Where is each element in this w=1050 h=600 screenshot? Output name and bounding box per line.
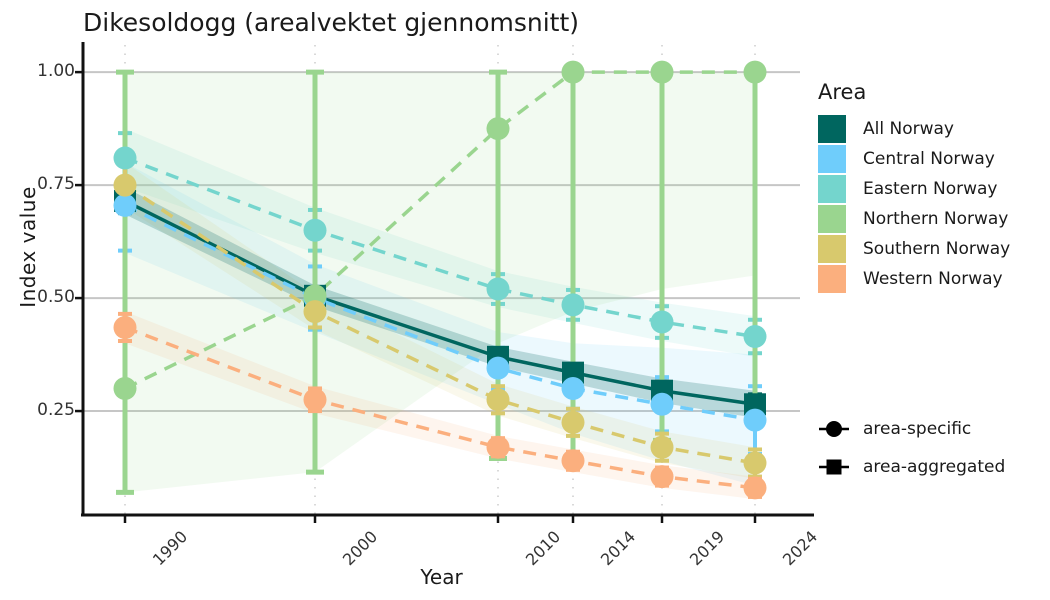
marker-circle-southern-norway-0: [114, 174, 137, 197]
marker-circle-eastern-norway-5: [744, 325, 767, 348]
shape-legend-item-area-specific[interactable]: area-specific: [818, 410, 1048, 448]
marker-circle-eastern-norway-2: [487, 278, 510, 301]
shape-legend-item-label: area-specific: [863, 419, 971, 439]
legend-color-swatch: [818, 235, 846, 263]
marker-circle-southern-norway-3: [562, 411, 585, 434]
marker-circle-southern-norway-5: [744, 452, 767, 475]
legend-item-label: Northern Norway: [863, 209, 1008, 229]
legend-item-all-norway[interactable]: All Norway: [818, 114, 1048, 144]
legend-item-northern-norway[interactable]: Northern Norway: [818, 204, 1048, 234]
marker-circle-southern-norway-1: [304, 300, 327, 323]
square-marker-icon: [818, 453, 850, 481]
marker-circle-eastern-norway-1: [304, 219, 327, 242]
marker-circle-northern-norway-3: [562, 61, 585, 84]
marker-circle-northern-norway-2: [487, 117, 510, 140]
marker-circle-northern-norway-0: [114, 377, 137, 400]
marker-circle-northern-norway-5: [744, 61, 767, 84]
shape-legend: area-specificarea-aggregated: [818, 410, 1048, 486]
legend-item-label: Southern Norway: [863, 239, 1010, 259]
area-legend: Area All NorwayCentral NorwayEastern Nor…: [818, 80, 1048, 294]
legend-item-central-norway[interactable]: Central Norway: [818, 144, 1048, 174]
legend-title: Area: [818, 80, 1048, 104]
legend-color-swatch: [818, 145, 846, 173]
marker-circle-eastern-norway-0: [114, 146, 137, 169]
legend-color-swatch: [818, 205, 846, 233]
circle-marker-icon: [818, 415, 850, 443]
legend-item-label: Western Norway: [863, 269, 1003, 289]
marker-circle-western-norway-3: [562, 449, 585, 472]
marker-circle-central-norway-4: [651, 393, 674, 416]
legend-item-eastern-norway[interactable]: Eastern Norway: [818, 174, 1048, 204]
x-axis-label: Year: [83, 565, 800, 589]
legend-item-western-norway[interactable]: Western Norway: [818, 264, 1048, 294]
marker-circle-eastern-norway-3: [562, 293, 585, 316]
marker-circle-western-norway-2: [487, 436, 510, 459]
y-tick-label: 1.00: [5, 61, 75, 81]
legend-item-label: All Norway: [863, 119, 954, 139]
legend-color-swatch: [818, 265, 846, 293]
marker-circle-western-norway-0: [114, 316, 137, 339]
legend-item-label: Central Norway: [863, 149, 995, 169]
marker-circle-central-norway-2: [487, 357, 510, 380]
legend-item-label: Eastern Norway: [863, 179, 998, 199]
marker-circle-central-norway-5: [744, 409, 767, 432]
marker-circle-northern-norway-4: [651, 61, 674, 84]
marker-circle-central-norway-0: [114, 194, 137, 217]
marker-circle-southern-norway-2: [487, 388, 510, 411]
y-axis-label: Index value: [16, 157, 40, 337]
shape-legend-item-area-aggregated[interactable]: area-aggregated: [818, 448, 1048, 486]
shape-legend-item-label: area-aggregated: [863, 457, 1005, 477]
legend-item-southern-norway[interactable]: Southern Norway: [818, 234, 1048, 264]
marker-circle-central-norway-3: [562, 377, 585, 400]
marker-circle-western-norway-5: [744, 476, 767, 499]
marker-circle-western-norway-1: [304, 388, 327, 411]
y-tick-label: 0.25: [5, 400, 75, 420]
legend-color-swatch: [818, 115, 846, 143]
chart-root: Dikesoldogg (arealvektet gjennomsnitt) 0…: [0, 0, 1050, 600]
legend-color-swatch: [818, 175, 846, 203]
marker-circle-southern-norway-4: [651, 436, 674, 459]
marker-circle-western-norway-4: [651, 465, 674, 488]
marker-circle-eastern-norway-4: [651, 311, 674, 334]
